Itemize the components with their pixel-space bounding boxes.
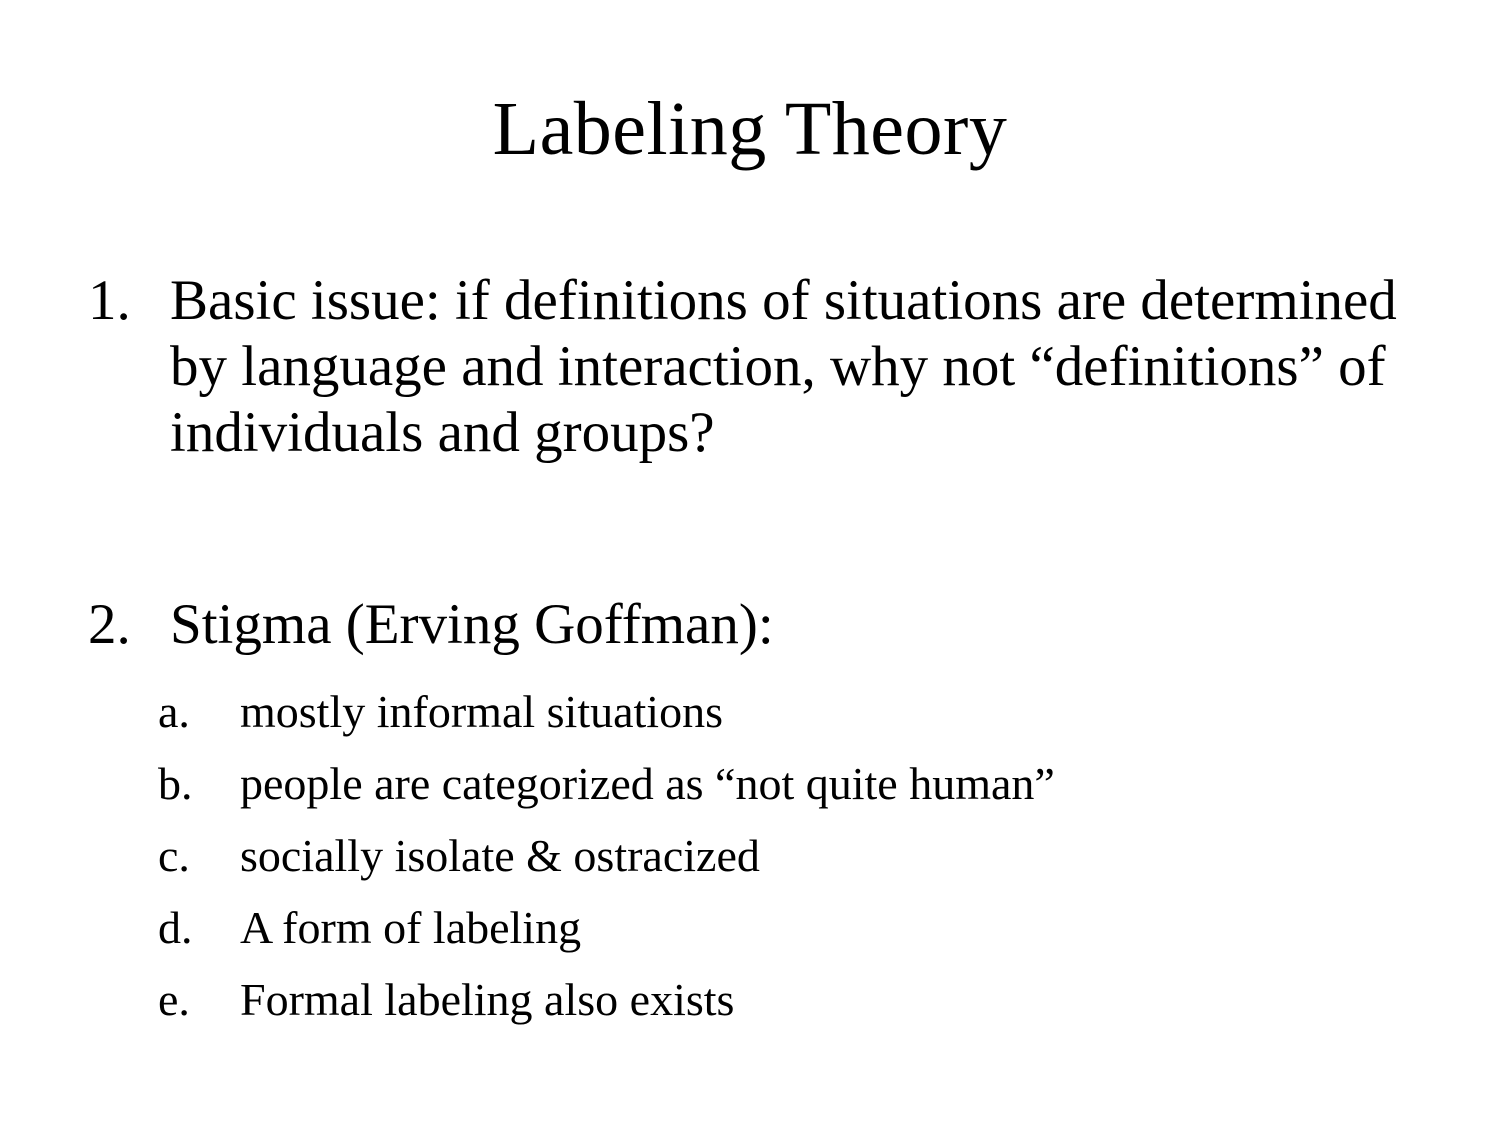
- sublist-marker-b: b.: [158, 748, 240, 820]
- list-item-1-text: Basic issue: if definitions of situation…: [170, 268, 1402, 466]
- list-item-2-text: Stigma (Erving Goffman):: [170, 592, 1402, 658]
- list-spacer: [88, 466, 1448, 592]
- slide-body-list: 1. Basic issue: if definitions of situat…: [88, 268, 1448, 1036]
- list-marker-1: 1.: [88, 268, 170, 334]
- sublist-item-a: a. mostly informal situations: [158, 676, 1448, 748]
- sublist-item-b: b. people are categorized as “not quite …: [158, 748, 1448, 820]
- list-marker-2: 2.: [88, 592, 170, 658]
- sublist-item-c: c. socially isolate & ostracized: [158, 820, 1448, 892]
- sublist-marker-c: c.: [158, 820, 240, 892]
- sublist-marker-d: d.: [158, 892, 240, 964]
- sublist-item-c-text: socially isolate & ostracized: [240, 820, 1448, 892]
- sublist-item-b-text: people are categorized as “not quite hum…: [240, 748, 1448, 820]
- list-item-2: 2. Stigma (Erving Goffman):: [88, 592, 1448, 658]
- sublist-item-d-text: A form of labeling: [240, 892, 1448, 964]
- sublist-stigma: a. mostly informal situations b. people …: [158, 676, 1448, 1036]
- list-item-1: 1. Basic issue: if definitions of situat…: [88, 268, 1448, 466]
- sublist-item-d: d. A form of labeling: [158, 892, 1448, 964]
- sublist-item-a-text: mostly informal situations: [240, 676, 1448, 748]
- sublist-item-e-text: Formal labeling also exists: [240, 964, 1448, 1036]
- slide-canvas: Labeling Theory 1. Basic issue: if defin…: [0, 0, 1500, 1125]
- sublist-marker-a: a.: [158, 676, 240, 748]
- sublist-item-e: e. Formal labeling also exists: [158, 964, 1448, 1036]
- page-title: Labeling Theory: [0, 88, 1500, 170]
- sublist-marker-e: e.: [158, 964, 240, 1036]
